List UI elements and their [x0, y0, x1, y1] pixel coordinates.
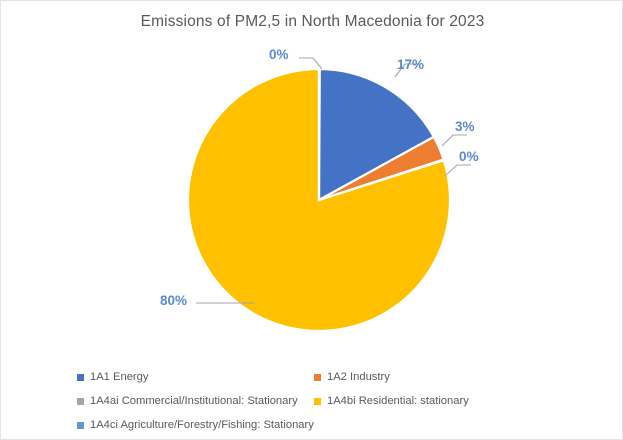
- legend-swatch-icon-agriculture: [77, 422, 84, 429]
- legend-swatch-icon-commercial: [77, 398, 84, 405]
- legend-label-residential: 1A4bi Residential: stationary: [327, 395, 469, 407]
- legend-item-energy[interactable]: 1A1 Energy: [77, 368, 148, 386]
- data-label-agriculture: 0%: [269, 47, 289, 62]
- pie-slice-agriculture[interactable]: [319, 69, 320, 200]
- data-label-commercial: 0%: [459, 149, 479, 164]
- chart-container: Emissions of PM2,5 in North Macedonia fo…: [0, 0, 623, 440]
- legend-item-industry[interactable]: 1A2 Industry: [314, 368, 390, 386]
- legend-swatch-icon-industry: [314, 374, 321, 381]
- data-label-energy: 17%: [397, 57, 424, 72]
- leader-line-industry: [442, 135, 467, 146]
- data-label-industry: 3%: [455, 119, 475, 134]
- pie-chart-svg: [1, 1, 623, 361]
- legend-label-energy: 1A1 Energy: [90, 371, 148, 383]
- legend-item-commercial[interactable]: 1A4ai Commercial/Institutional: Stationa…: [77, 392, 298, 410]
- legend-label-commercial: 1A4ai Commercial/Institutional: Stationa…: [90, 395, 298, 407]
- legend-item-residential[interactable]: 1A4bi Residential: stationary: [314, 392, 469, 410]
- chart-legend: 1A1 Energy 1A2 Industry 1A4ai Commercial…: [1, 364, 623, 436]
- legend-label-industry: 1A2 Industry: [327, 371, 390, 383]
- leader-line-commercial: [445, 165, 471, 176]
- legend-label-agriculture: 1A4ci Agriculture/Forestry/Fishing: Stat…: [90, 419, 314, 431]
- leader-line-agriculture: [299, 58, 322, 69]
- legend-item-agriculture[interactable]: 1A4ci Agriculture/Forestry/Fishing: Stat…: [77, 416, 314, 434]
- legend-swatch-icon-energy: [77, 374, 84, 381]
- data-label-residential: 80%: [160, 293, 187, 308]
- legend-swatch-icon-residential: [314, 398, 321, 405]
- pie-chart-plot-area: 0% 17% 3% 0% 80%: [1, 1, 623, 361]
